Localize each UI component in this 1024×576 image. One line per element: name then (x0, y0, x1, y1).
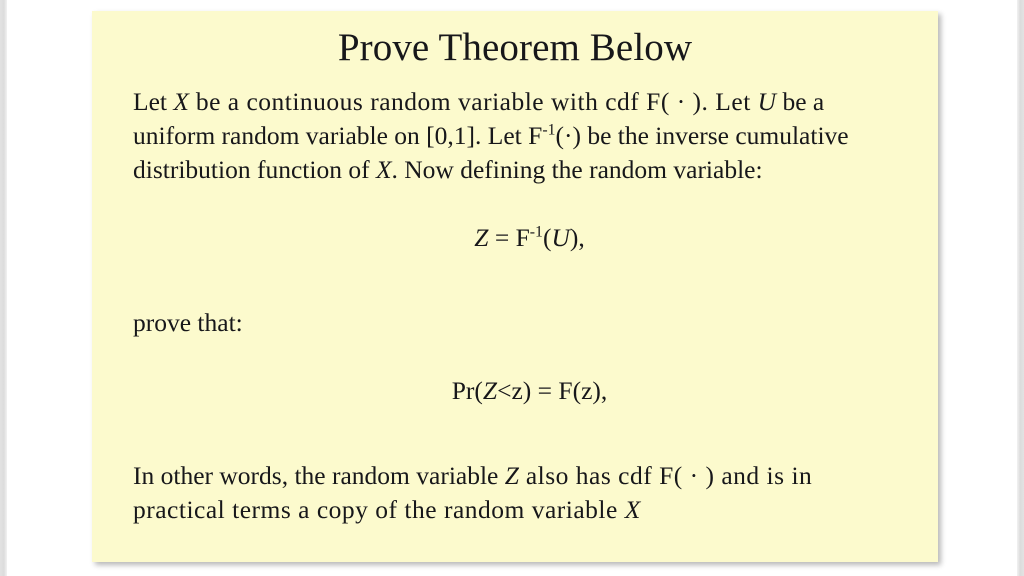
equation-z-definition: Z = F-1(U), (133, 221, 908, 255)
equation-probability-statement: Pr(Z<z) = F(z), (133, 374, 908, 408)
superscript-inverse-2: -1 (530, 224, 543, 241)
equation-pr-prefix: Pr( (452, 376, 483, 405)
superscript-inverse-1: -1 (542, 122, 555, 139)
variable-z-1: Z (505, 461, 519, 490)
vertical-spacer (133, 408, 908, 442)
equation-equals-sign: = (488, 223, 515, 252)
text-segment: be a continuous random variable with cdf… (189, 87, 758, 116)
vertical-spacer (133, 255, 908, 289)
viewer-left-gutter (0, 0, 7, 576)
variable-x-3: X (625, 495, 641, 524)
slide-title: Prove Theorem Below (92, 25, 938, 71)
slide-body: Let X be a continuous random variable wi… (133, 85, 908, 527)
equation-relation: <z) = F(z), (497, 376, 607, 405)
slide-viewer: Prove Theorem Below Let X be a continuou… (0, 0, 1024, 576)
equation-variable-z: Z (483, 376, 497, 405)
equation-argument-u: U (551, 223, 569, 252)
variable-u-1: U (758, 87, 776, 116)
vertical-spacer (133, 187, 908, 221)
viewer-right-gutter[interactable] (1017, 0, 1024, 576)
paragraph-in-other-words: In other words, the random variable Z al… (133, 459, 908, 527)
vertical-spacer (133, 442, 908, 459)
vertical-spacer (133, 289, 908, 306)
variable-x-1: X (173, 87, 189, 116)
text-segment: Let (133, 87, 173, 116)
variable-x-2: X (376, 155, 392, 184)
equation-function-f: F (516, 223, 530, 252)
vertical-spacer (133, 340, 908, 374)
slide-surface[interactable]: Prove Theorem Below Let X be a continuou… (92, 11, 938, 562)
equation-close-paren: ), (570, 223, 585, 252)
paragraph-theorem-setup: Let X be a continuous random variable wi… (133, 85, 908, 187)
text-segment: In other words, the random variable (133, 461, 505, 490)
paragraph-prove-that: prove that: (133, 306, 908, 340)
equation-lhs-z: Z (474, 223, 488, 252)
text-segment: . Now defining the random variable: (392, 155, 763, 184)
